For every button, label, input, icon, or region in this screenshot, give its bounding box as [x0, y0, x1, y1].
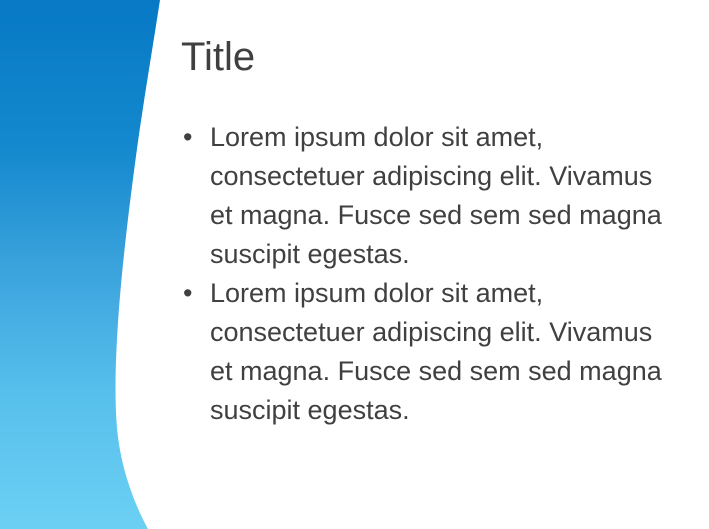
bullet-point-icon: •	[183, 118, 203, 157]
wave-path	[0, 0, 160, 529]
list-item: • Lorem ipsum dolor sit amet, consectetu…	[181, 118, 671, 274]
list-item-text: Lorem ipsum dolor sit amet, consectetuer…	[210, 274, 671, 430]
bullet-point-icon: •	[183, 274, 203, 313]
blue-wave-shape	[0, 0, 200, 529]
list-item: • Lorem ipsum dolor sit amet, consectetu…	[181, 274, 671, 430]
bullet-list: • Lorem ipsum dolor sit amet, consectetu…	[181, 118, 671, 430]
page-title: Title	[181, 33, 681, 81]
list-item-text: Lorem ipsum dolor sit amet, consectetuer…	[210, 118, 671, 274]
slide-canvas: Title • Lorem ipsum dolor sit amet, cons…	[0, 0, 709, 529]
